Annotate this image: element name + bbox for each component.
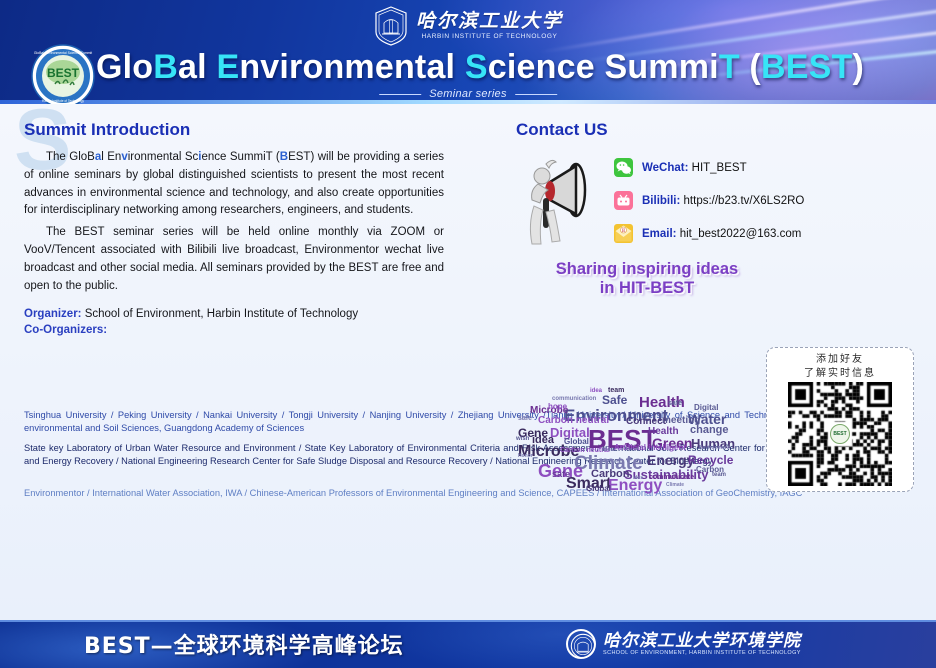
- organizer-line: Organizer: School of Environment, Harbin…: [24, 308, 444, 320]
- summit-introduction-title: Summit Introduction: [24, 120, 444, 140]
- organizer-label: Organizer:: [24, 308, 82, 320]
- title-segment-9: BEST: [761, 48, 852, 86]
- footer-logo-cn: 哈尔滨工业大学环境学院: [603, 632, 801, 651]
- word-cloud-term-45: ides: [633, 476, 643, 481]
- word-cloud-term-22: idea: [532, 435, 554, 446]
- organizer-value: School of Environment, Harbin Institute …: [82, 308, 359, 320]
- title-segment-6: cience Summi: [488, 48, 719, 86]
- word-cloud-term-37: Global: [586, 485, 611, 493]
- word-cloud-term-26: Digital: [694, 404, 718, 412]
- subtitle-rule-left: [379, 94, 421, 95]
- title-segment-2: al: [178, 48, 216, 86]
- word-cloud-term-25: Artificial intelligent: [614, 444, 686, 452]
- subtitle-rule-right: [515, 94, 557, 95]
- hit-name-en: HARBIN INSTITUTE OF TECHNOLOGY: [422, 34, 558, 41]
- header-streak-1: [538, 0, 936, 54]
- contact-text-0: WeChat: HIT_BEST: [642, 162, 747, 174]
- share-slogan: Sharing inspiring ideas in HIT-BEST: [516, 260, 778, 298]
- word-cloud: BESTEnvironmentClimateMicrobeGeneSustain…: [516, 382, 766, 492]
- footer-logo-text: 哈尔滨工业大学环境学院 SCHOOL OF ENVIRONMENT, HARBI…: [603, 632, 801, 657]
- bilibili-icon: [614, 191, 633, 210]
- qr-caption-line1: 添加好友: [816, 353, 864, 367]
- intro-paragraph-1: The GloBal Environmental Science SummiT …: [24, 149, 444, 220]
- footer-seal-icon: [566, 629, 596, 659]
- word-cloud-term-14: change: [690, 425, 729, 436]
- title-segment-7: T: [719, 48, 740, 86]
- intro-paragraph-2: The BEST seminar series will be held onl…: [24, 224, 444, 295]
- word-cloud-term-18: Carbon neutral: [538, 416, 609, 426]
- poster-body: S Summit Introduction The GloBal Environ…: [0, 104, 936, 620]
- megaphone-icon: [516, 146, 608, 250]
- contact-wrap: WeChat: HIT_BESTBilibili: https://b23.tv…: [516, 146, 920, 250]
- word-cloud-term-30: safe: [668, 400, 682, 407]
- contact-title: Contact US: [516, 120, 920, 140]
- seminar-subtitle: Seminar series: [379, 88, 557, 100]
- word-cloud-term-24: Health: [648, 427, 679, 437]
- word-cloud-term-23: Carbon: [591, 469, 630, 480]
- page-title: GloBal Environmental Science SummiT (BES…: [96, 50, 864, 84]
- summit-introduction-section: Summit Introduction The GloBal Environme…: [24, 120, 444, 336]
- share-slogan-line2: in HIT-BEST: [516, 279, 778, 298]
- qr-code-image: BEST: [788, 382, 892, 486]
- footer-top-rule: [0, 620, 936, 622]
- poster-header: 哈尔滨工业大学 HARBIN INSTITUTE OF TECHNOLOGY B…: [0, 0, 936, 104]
- qr-caption-line2: 了解实时信息: [804, 367, 876, 381]
- word-cloud-term-44: team: [712, 472, 726, 478]
- contact-text-1: Bilibili: https://b23.tv/X6LS2RO: [642, 195, 804, 207]
- word-cloud-term-32: safe: [518, 415, 532, 422]
- title-segment-0: Glo: [96, 48, 153, 86]
- qr-center-logo: BEST: [830, 424, 850, 444]
- share-slogan-line1: Sharing inspiring ideas: [516, 260, 778, 279]
- contact-row-1[interactable]: Bilibili: https://b23.tv/X6LS2RO: [614, 191, 920, 210]
- word-cloud-term-34: Global: [564, 438, 589, 446]
- word-cloud-term-43: Environment: [699, 446, 730, 451]
- poster-footer: BEST—全球环境科学高峰论坛 哈尔滨工业大学环境学院 SCHOOL OF EN…: [0, 620, 936, 668]
- best-round-logo-icon: BEST GloBal Environmental Science Summit…: [31, 44, 95, 104]
- word-cloud-term-40: Honor: [518, 454, 533, 459]
- footer-school-logo: 哈尔滨工业大学环境学院 SCHOOL OF ENVIRONMENT, HARBI…: [566, 629, 801, 659]
- title-segment-4: nvironmental: [239, 48, 465, 86]
- svg-text:GloBal Environmental Science S: GloBal Environmental Science Summit: [34, 51, 92, 55]
- word-cloud-term-31: hope: [548, 403, 567, 411]
- contact-text-2: Email: hit_best2022@163.com: [642, 228, 801, 240]
- word-cloud-term-41: idea: [602, 447, 614, 453]
- hit-logo-text: 哈尔滨工业大学 HARBIN INSTITUTE OF TECHNOLOGY: [416, 12, 563, 41]
- title-segment-3: E: [216, 48, 239, 86]
- word-cloud-term-36: safe: [552, 470, 570, 479]
- contact-row-2[interactable]: 囧Email: hit_best2022@163.com: [614, 224, 920, 243]
- wechat-qr-card[interactable]: 添加好友 了解实时信息 BEST: [766, 347, 914, 492]
- word-cloud-term-33: wish: [516, 436, 529, 442]
- word-cloud-term-20: meeting: [662, 416, 700, 426]
- footer-slogan: BEST—全球环境科学高峰论坛: [84, 628, 404, 660]
- hit-name-cn: 哈尔滨工业大学: [416, 12, 563, 31]
- email-icon: 囧: [614, 224, 633, 243]
- contact-row-0[interactable]: WeChat: HIT_BEST: [614, 158, 920, 177]
- title-segment-10: ): [852, 48, 864, 86]
- hit-university-logo: 哈尔滨工业大学 HARBIN INSTITUTE OF TECHNOLOGY: [373, 6, 563, 46]
- coorganizers-label: Co-Organizers:: [24, 324, 444, 336]
- title-segment-1: B: [153, 48, 178, 86]
- hit-seal-icon: [373, 6, 409, 46]
- subtitle-text: Seminar series: [429, 88, 507, 100]
- svg-text:BEST: BEST: [47, 66, 80, 80]
- wechat-icon: [614, 158, 633, 177]
- word-cloud-term-17: Safe: [602, 394, 627, 406]
- title-segment-5: S: [465, 48, 488, 86]
- word-cloud-term-38: communicate: [649, 474, 694, 481]
- title-segment-8: (: [740, 48, 761, 86]
- main-title-text: GloBal Environmental Science SummiT (BES…: [96, 50, 864, 84]
- contact-section: Contact US WeChat: HIT_BESTB: [516, 120, 920, 298]
- svg-text:Harbin Institute of Technology: Harbin Institute of Technology: [42, 99, 84, 103]
- word-cloud-term-42: Climate: [666, 483, 684, 488]
- poster-root: 哈尔滨工业大学 HARBIN INSTITUTE OF TECHNOLOGY B…: [0, 0, 936, 668]
- contact-list: WeChat: HIT_BESTBilibili: https://b23.tv…: [614, 146, 920, 250]
- word-cloud-term-29: team: [608, 387, 624, 394]
- footer-logo-en: SCHOOL OF ENVIRONMENT, HARBIN INSTITUTE …: [603, 650, 801, 656]
- word-cloud-term-28: idea: [590, 388, 602, 394]
